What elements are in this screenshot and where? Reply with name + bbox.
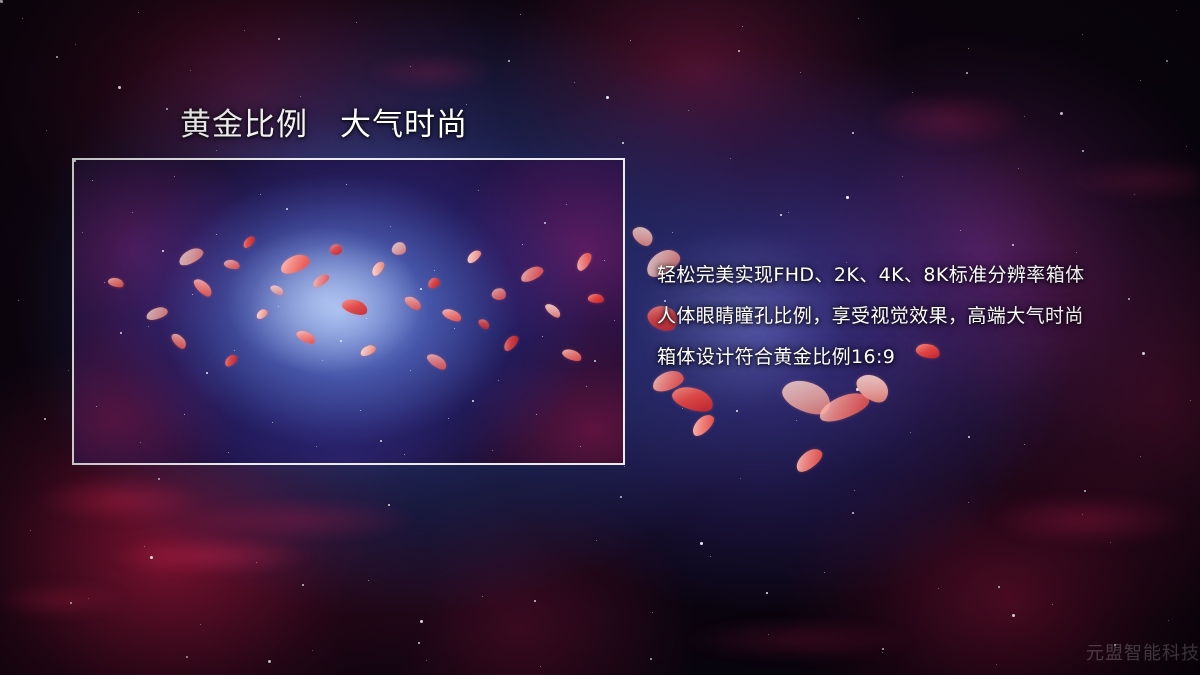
flower-petal bbox=[792, 445, 826, 475]
description-line-3: 箱体设计符合黄金比例16:9 bbox=[657, 337, 1192, 378]
slide-canvas: 黄金比例 大气时尚 轻松完美实现FHD、2K、4K、8K标准分辨率箱体 人体眼睛… bbox=[0, 0, 1200, 675]
golden-ratio-preview-frame bbox=[72, 158, 625, 465]
starfield-large bbox=[0, 0, 3, 3]
description-line-2: 人体眼睛瞳孔比例，享受视觉效果，高端大气时尚 bbox=[657, 296, 1192, 337]
flower-petal bbox=[630, 222, 656, 249]
flower-petal bbox=[689, 411, 718, 438]
description-line-1: 轻松完美实现FHD、2K、4K、8K标准分辨率箱体 bbox=[657, 255, 1192, 296]
page-title: 黄金比例 大气时尚 bbox=[180, 99, 468, 144]
company-watermark: 元盟智能科技 bbox=[1086, 639, 1200, 665]
description-block: 轻松完美实现FHD、2K、4K、8K标准分辨率箱体 人体眼睛瞳孔比例，享受视觉效… bbox=[657, 255, 1192, 378]
preview-starfield-large bbox=[74, 160, 76, 162]
